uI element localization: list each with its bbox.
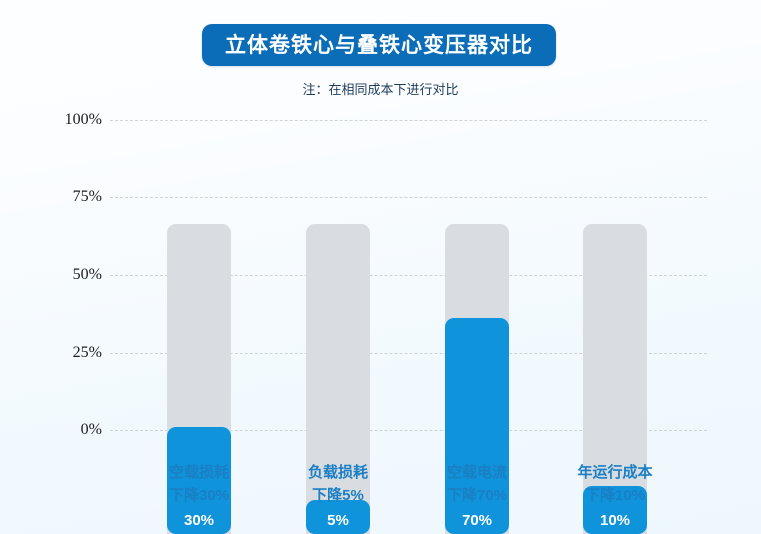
bar-value-label-3: 70%: [445, 513, 509, 528]
xaxis-label-1: 空载损耗 下降30%: [134, 461, 264, 508]
xaxis-label-4: 年运行成本 下降10%: [550, 461, 680, 508]
ytick-label-75: 75%: [32, 188, 102, 206]
bar-value-label-1: 30%: [167, 513, 231, 528]
ytick-label-100: 100%: [32, 111, 102, 129]
chart-canvas: 立体卷铁心与叠铁心变压器对比 注：在相同成本下进行对比 100% 75% 50%…: [0, 0, 761, 534]
xaxis-label-4-line2: 下降10%: [550, 484, 680, 507]
xaxis-label-3-line1: 空载电流: [447, 464, 507, 481]
xaxis-label-2-line2: 下降5%: [273, 484, 403, 507]
ytick-label-50: 50%: [32, 266, 102, 284]
xaxis-label-4-line1: 年运行成本: [577, 464, 652, 481]
xaxis-label-1-line1: 空载损耗: [169, 464, 229, 481]
xaxis-label-3-line2: 下降70%: [412, 484, 542, 507]
ytick-label-25: 25%: [32, 344, 102, 362]
bar-value-label-4: 10%: [583, 513, 647, 528]
ytick-label-0: 0%: [32, 421, 102, 439]
bar-value-label-2: 5%: [306, 513, 370, 528]
xaxis-label-2-line1: 负载损耗: [308, 464, 368, 481]
plot-area: 100% 75% 50% 25% 0% 30% 5% 70% 10%: [0, 0, 761, 534]
xaxis-label-2: 负载损耗 下降5%: [273, 461, 403, 508]
xaxis-label-3: 空载电流 下降70%: [412, 461, 542, 508]
xaxis-label-1-line2: 下降30%: [134, 484, 264, 507]
